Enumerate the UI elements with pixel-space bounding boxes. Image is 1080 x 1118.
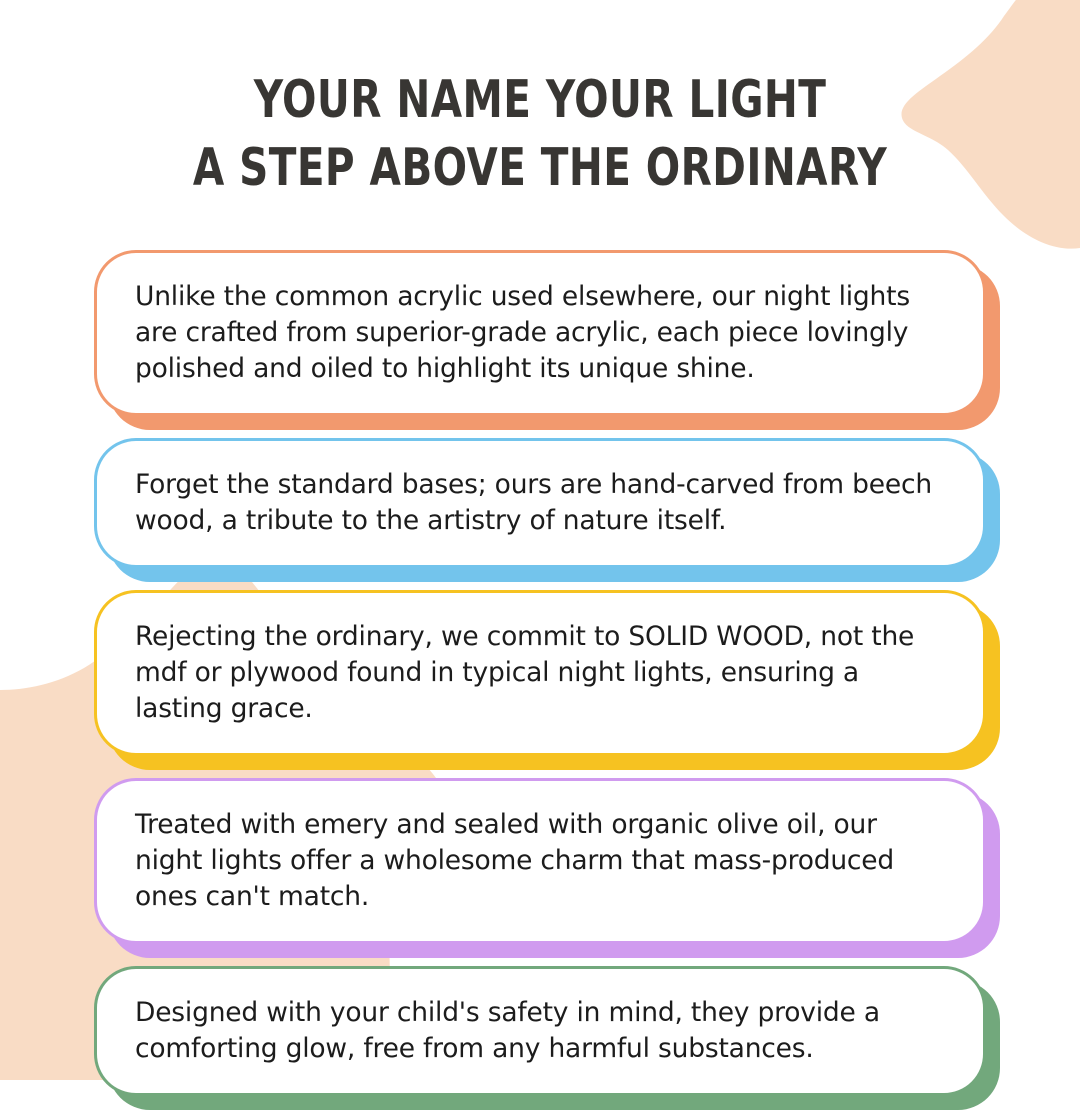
feature-card-4: Treated with emery and sealed with organ…: [94, 778, 986, 944]
feature-card-2: Forget the standard bases; ours are hand…: [94, 438, 986, 568]
feature-card-3: Rejecting the ordinary, we commit to SOL…: [94, 590, 986, 756]
feature-card-text: Treated with emery and sealed with organ…: [135, 807, 949, 915]
feature-card-text: Designed with your child's safety in min…: [135, 995, 949, 1067]
feature-card-list: Unlike the common acrylic used elsewhere…: [0, 250, 1080, 1118]
feature-card-5: Designed with your child's safety in min…: [94, 966, 986, 1096]
feature-card-body[interactable]: Treated with emery and sealed with organ…: [94, 778, 986, 944]
page-title-line-1: YOUR NAME YOUR LIGHT: [119, 66, 961, 134]
feature-card-body[interactable]: Designed with your child's safety in min…: [94, 966, 986, 1096]
feature-card-body[interactable]: Forget the standard bases; ours are hand…: [94, 438, 986, 568]
feature-card-body[interactable]: Rejecting the ordinary, we commit to SOL…: [94, 590, 986, 756]
page-title: YOUR NAME YOUR LIGHT A STEP ABOVE THE OR…: [0, 66, 1080, 202]
feature-card-text: Forget the standard bases; ours are hand…: [135, 467, 949, 539]
feature-card-body[interactable]: Unlike the common acrylic used elsewhere…: [94, 250, 986, 416]
page-title-line-2: A STEP ABOVE THE ORDINARY: [119, 134, 961, 202]
feature-card-text: Rejecting the ordinary, we commit to SOL…: [135, 619, 949, 727]
feature-card-text: Unlike the common acrylic used elsewhere…: [135, 279, 949, 387]
feature-card-1: Unlike the common acrylic used elsewhere…: [94, 250, 986, 416]
